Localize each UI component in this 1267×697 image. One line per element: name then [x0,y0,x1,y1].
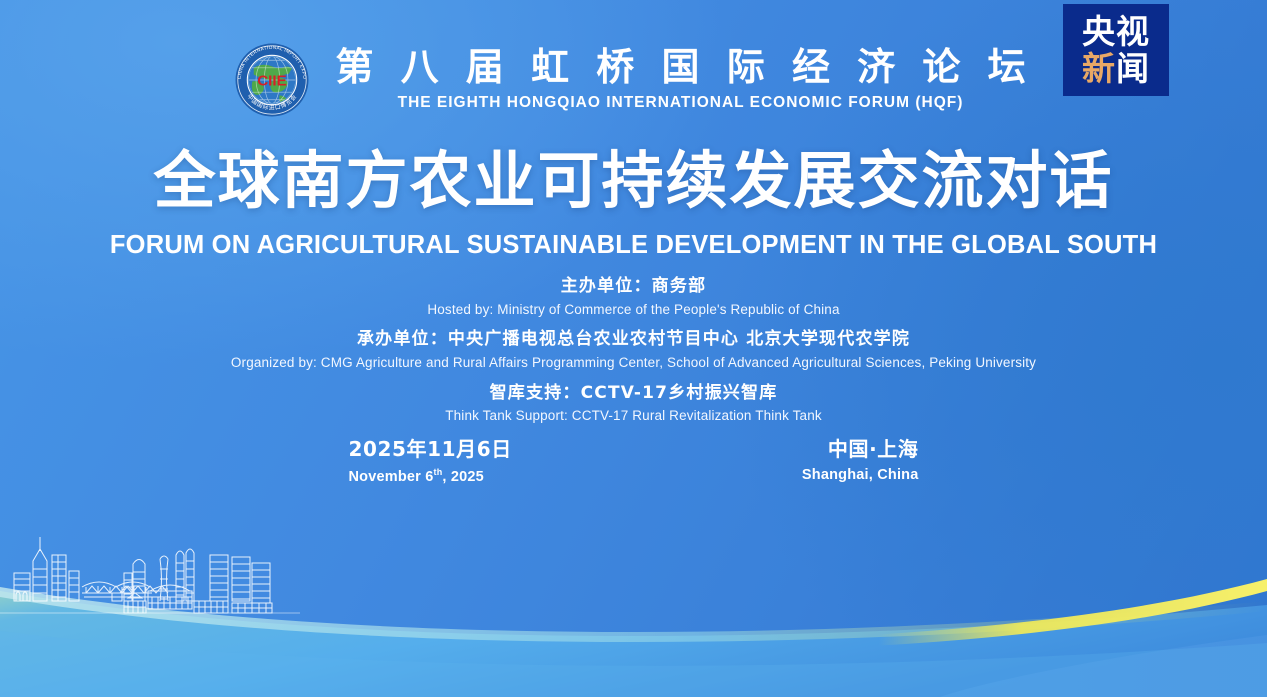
event-date-en: November 6th, 2025 [348,467,483,485]
credit-organizer: 承办单位：中央广播电视总台农业农村节目中心 北京大学现代农学院 Organize… [0,327,1267,373]
forum-title-cn: 第 八 届 虹 桥 国 际 经 济 论 坛 [328,48,1032,88]
credit-organizer-en: Organized by: CMG Agriculture and Rural … [0,353,1267,374]
credit-host-en: Hosted by: Ministry of Commerce of the P… [0,300,1267,321]
event-date-en-prefix: November 6 [348,469,433,485]
credit-organizer-cn: 承办单位：中央广播电视总台农业农村节目中心 北京大学现代农学院 [0,327,1267,353]
forum-banner: 央 视 新 闻 [0,0,1267,697]
forum-header: CIIE CHINA INTERNATIONAL IMPORT EXPO 中国国… [0,42,1267,118]
event-venue-en: Shanghai, China [802,467,919,483]
credit-think-tank-cn: 智库支持：CCTV-17乡村振兴智库 [0,381,1267,407]
forum-title-en: THE EIGHTH HONGQIAO INTERNATIONAL ECONOM… [398,94,964,112]
credits-block: 主办单位：商务部 Hosted by: Ministry of Commerce… [0,274,1267,434]
event-venue-cn: 中国·上海 [828,437,919,462]
event-date: 2025年11月6日 November 6th, 2025 [348,437,511,485]
ciie-globe-emblem: CIIE CHINA INTERNATIONAL IMPORT EXPO 中国国… [234,42,310,118]
page-title-cn: 全球南方农业可持续发展交流对话 [0,148,1267,214]
date-venue-bar: 2025年11月6日 November 6th, 2025 中国·上海 Shan… [0,437,1267,485]
credit-host: 主办单位：商务部 Hosted by: Ministry of Commerce… [0,274,1267,320]
event-venue: 中国·上海 Shanghai, China [802,437,919,483]
event-date-en-suffix: , 2025 [442,469,484,485]
forum-header-text: 第 八 届 虹 桥 国 际 经 济 论 坛 THE EIGHTH HONGQIA… [328,48,1032,113]
page-title-en: FORUM ON AGRICULTURAL SUSTAINABLE DEVELO… [0,231,1267,260]
credit-think-tank-en: Think Tank Support: CCTV-17 Rural Revita… [0,406,1267,427]
event-date-cn: 2025年11月6日 [348,437,511,462]
credit-host-cn: 主办单位：商务部 [0,274,1267,300]
credit-think-tank: 智库支持：CCTV-17乡村振兴智库 Think Tank Support: C… [0,381,1267,427]
shanghai-skyline-line-art [0,529,300,619]
ciie-wordmark: CIIE [258,72,288,89]
